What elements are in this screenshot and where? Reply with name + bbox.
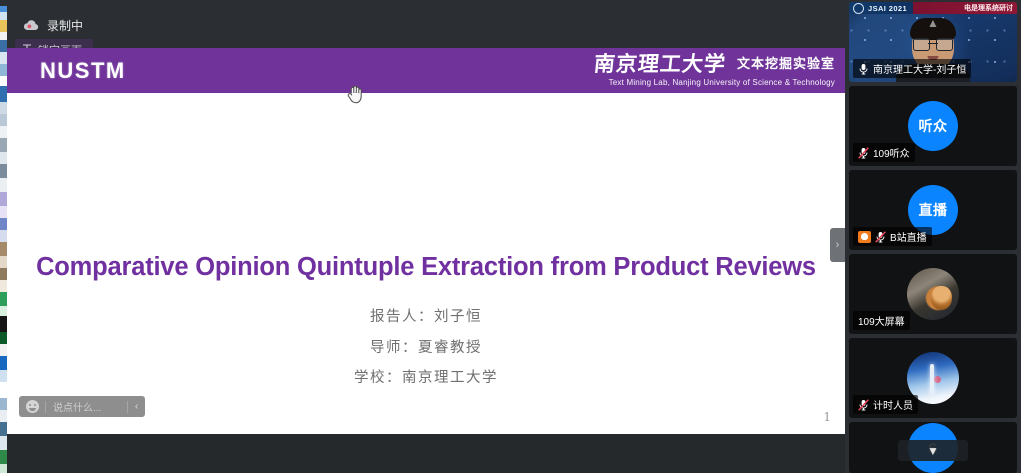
video-tile-speaker[interactable]: JSAI 2021 电是理系统研讨 ▲ 南京理工大学-刘子恒 <box>849 2 1017 82</box>
tile-label: 南京理工大学-刘子恒 <box>853 59 971 78</box>
lab-branding: 南京理工大学 文本挖掘实验室 Text Mining Lab, Nanjing … <box>594 53 835 87</box>
university-name-cn: 南京理工大学 <box>592 53 726 74</box>
avatar <box>907 268 959 320</box>
meeting-bottom-bar <box>7 434 845 473</box>
lab-name-en: Text Mining Lab, Nanjing University of S… <box>594 79 835 87</box>
chat-placeholder[interactable]: 说点什么... <box>46 399 127 414</box>
slide-subtitle-block: 报告人：刘子恒 导师：夏睿教授 学校：南京理工大学 <box>7 310 845 402</box>
video-tile-live[interactable]: 直播 B站直播 <box>849 170 1017 250</box>
tile-label-text: 计时人员 <box>873 397 913 412</box>
tile-label-text: B站直播 <box>890 229 927 244</box>
slide-page-number: 1 <box>823 410 831 424</box>
video-tile-timekeeper[interactable]: 计时人员 <box>849 338 1017 418</box>
video-tile-audience[interactable]: 听众 109听众 <box>849 86 1017 166</box>
nustm-logo: NUSTM <box>40 58 126 84</box>
dog-photo <box>907 268 959 320</box>
slide-title: Comparative Opinion Quintuple Extraction… <box>7 253 845 282</box>
lab-name-cn: 文本挖掘实验室 <box>737 57 835 70</box>
conference-banner-cn: 电是理系统研讨 <box>964 3 1013 13</box>
conference-banner-text: JSAI 2021 <box>868 4 907 13</box>
recording-label: 录制中 <box>47 17 83 34</box>
slide-line-presenter: 报告人：刘子恒 <box>7 310 845 325</box>
chat-input-bar[interactable]: 说点什么... ‹ <box>19 396 145 417</box>
chevron-right-icon[interactable]: › <box>830 228 845 262</box>
participant-video-rail[interactable]: JSAI 2021 电是理系统研讨 ▲ 南京理工大学-刘子恒 <box>845 0 1021 473</box>
host-person-icon <box>858 231 871 243</box>
tile-label-text: 南京理工大学-刘子恒 <box>873 61 966 76</box>
cloud-icon <box>23 20 39 31</box>
microphone-icon <box>858 63 869 75</box>
tile-label: 109大屏幕 <box>853 311 910 330</box>
conference-seal-icon <box>853 3 864 14</box>
slide-line-school: 学校：南京理工大学 <box>7 371 845 386</box>
meeting-top-bar: 录制中 锁定画面 <box>7 6 845 48</box>
tile-label: 109听众 <box>853 143 915 162</box>
shared-slide-area: NUSTM 南京理工大学 文本挖掘实验室 Text Mining Lab, Na… <box>7 48 845 434</box>
glasses-icon <box>913 38 953 49</box>
tile-label-text: 109大屏幕 <box>858 313 905 328</box>
chevron-left-icon[interactable]: ‹ <box>128 401 145 412</box>
chevron-up-icon[interactable]: ▲ <box>927 16 939 30</box>
video-tile-bigscreen[interactable]: 109大屏幕 <box>849 254 1017 334</box>
microphone-muted-icon <box>858 399 869 411</box>
browser-edge-strip <box>0 6 7 473</box>
microphone-muted-icon <box>858 147 869 159</box>
chevron-down-icon[interactable]: ▼ <box>898 440 968 461</box>
avatar: 听众 <box>908 101 958 151</box>
emoji-face-icon[interactable] <box>19 400 45 413</box>
tile-label: B站直播 <box>853 227 932 246</box>
conference-banner: JSAI 2021 电是理系统研讨 <box>849 2 1017 14</box>
microphone-muted-icon <box>875 231 886 243</box>
meeting-screen-share-window: 录制中 锁定画面 NUSTM 南京理工大学 文本挖掘实验室 Text Minin… <box>0 0 1021 473</box>
tile-label: 计时人员 <box>853 395 918 414</box>
slide-line-advisor: 导师：夏睿教授 <box>7 341 845 356</box>
recording-indicator: 录制中 <box>23 17 83 34</box>
slide-banner: NUSTM 南京理工大学 文本挖掘实验室 Text Mining Lab, Na… <box>7 48 845 93</box>
tile-label-text: 109听众 <box>873 145 910 160</box>
